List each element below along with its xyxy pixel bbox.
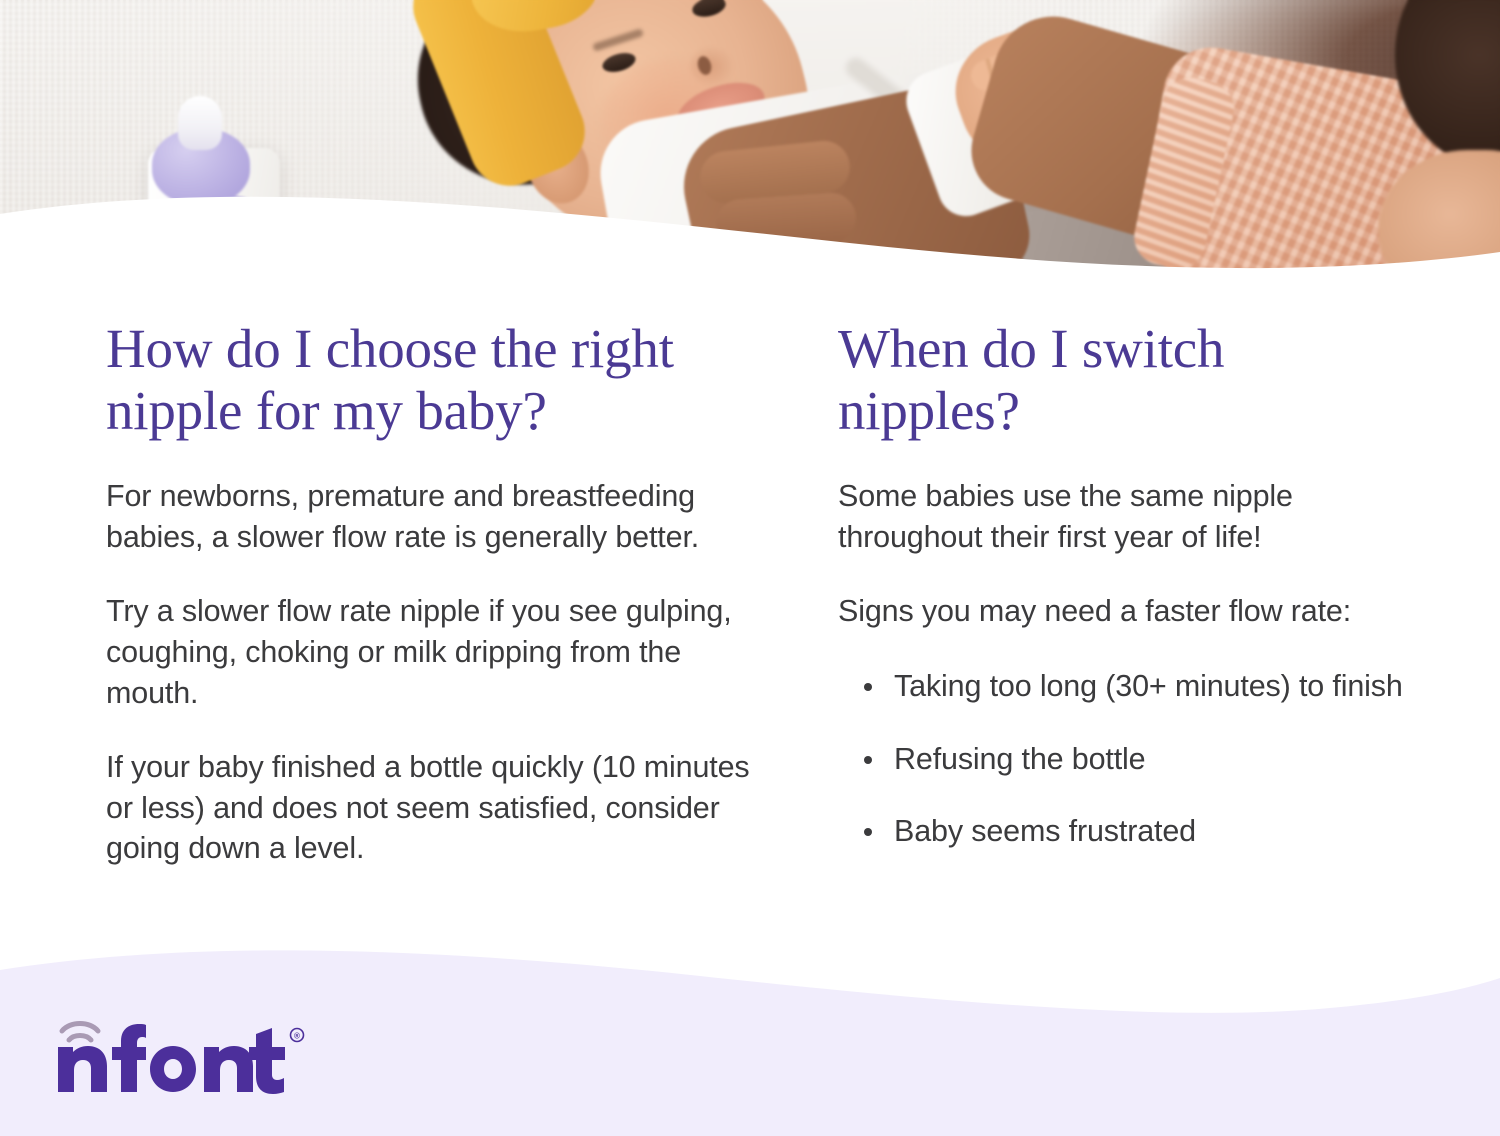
baby-nose xyxy=(690,46,734,86)
switch-signs-list: Taking too long (30+ minutes) to finish … xyxy=(838,666,1440,852)
main-content: How do I choose the right nipple for my … xyxy=(0,318,1500,869)
right-paragraph-2: Signs you may need a faster flow rate: xyxy=(838,591,1440,632)
list-item: Taking too long (30+ minutes) to finish xyxy=(894,666,1440,707)
list-item: Refusing the bottle xyxy=(894,739,1440,780)
nfant-logo: ® xyxy=(56,1014,326,1094)
footer-band: ® xyxy=(0,936,1500,1136)
left-paragraph-2: Try a slower flow rate nipple if you see… xyxy=(106,591,770,713)
baby-bottle-nipple xyxy=(178,96,222,150)
registered-trademark-glyph: ® xyxy=(294,1032,300,1041)
nfant-wordmark xyxy=(58,1024,285,1094)
column-left: How do I choose the right nipple for my … xyxy=(0,318,790,869)
right-column-heading: When do I switch nipples? xyxy=(838,318,1318,442)
list-item: Baby seems frustrated xyxy=(894,811,1440,852)
page-root: How do I choose the right nipple for my … xyxy=(0,0,1500,1136)
wifi-arcs-icon xyxy=(62,1024,98,1041)
hero-photo-banner xyxy=(0,0,1500,300)
left-paragraph-1: For newborns, premature and breastfeedin… xyxy=(106,476,770,557)
hero-wave-divider xyxy=(0,180,1500,300)
right-paragraph-1: Some babies use the same nipple througho… xyxy=(838,476,1440,557)
column-right: When do I switch nipples? Some babies us… xyxy=(790,318,1500,869)
nfant-logo-svg: ® xyxy=(56,1014,326,1094)
left-paragraph-3: If your baby finished a bottle quickly (… xyxy=(106,747,770,869)
left-column-heading: How do I choose the right nipple for my … xyxy=(106,318,770,442)
registered-trademark-icon: ® xyxy=(291,1029,304,1042)
